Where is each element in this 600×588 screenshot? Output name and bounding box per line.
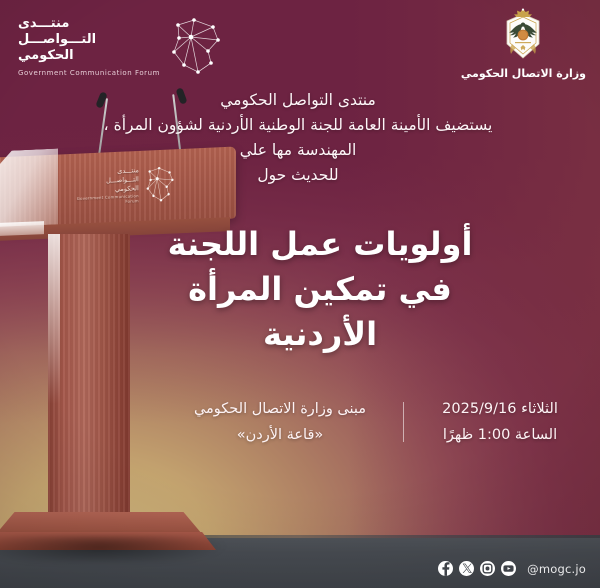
- event-time: الساعة 1:00 ظهرًا: [443, 426, 557, 444]
- facebook-icon[interactable]: [438, 561, 453, 576]
- forum-logo-line2: التـــواصـــل: [18, 32, 96, 48]
- intro-line-3: المهندسة مها علي: [16, 138, 580, 163]
- instagram-icon[interactable]: [480, 561, 495, 576]
- x-twitter-icon[interactable]: [459, 561, 474, 576]
- forum-logo-line1: منتـــدى: [18, 16, 69, 32]
- event-poster: منتـــدى التـــواصـــل الحكومي Governmen…: [0, 0, 600, 588]
- youtube-icon[interactable]: [501, 561, 516, 576]
- intro-line-1: منتدى التواصل الحكومي: [16, 88, 580, 113]
- event-venue: مبنى وزارة الاتصال الحكومي «قاعة الأردن»: [173, 400, 403, 444]
- forum-logo-english: Government Communication Forum: [18, 69, 160, 77]
- headline-line-3: الأردنية: [60, 312, 580, 357]
- jordan-map-constellation-icon: [168, 16, 224, 76]
- intro-line-2: يستضيف الأمينة العامة للجنة الوطنية الأر…: [16, 113, 580, 138]
- ministry-logo-label: وزارة الاتصال الحكومي: [461, 67, 586, 80]
- event-date: الثلاثاء 2025/9/16: [442, 400, 558, 418]
- event-datetime: الثلاثاء 2025/9/16 الساعة 1:00 ظهرًا: [404, 400, 580, 444]
- forum-logo: منتـــدى التـــواصـــل الحكومي Governmen…: [18, 16, 224, 77]
- event-details: الثلاثاء 2025/9/16 الساعة 1:00 ظهرًا مبن…: [160, 400, 580, 444]
- headline-line-1: أولويات عمل اللجنة: [60, 222, 580, 267]
- ministry-logo: وزارة الاتصال الحكومي: [461, 8, 586, 80]
- social-bar: @mogc.jo: [438, 561, 586, 576]
- details-divider: [403, 402, 404, 442]
- social-handle[interactable]: @mogc.jo: [527, 562, 586, 576]
- intro-line-4: للحديث حول: [16, 163, 580, 188]
- forum-logo-line3: الحكومي: [18, 48, 74, 64]
- venue-hall: «قاعة الأردن»: [237, 426, 324, 444]
- venue-building: مبنى وزارة الاتصال الحكومي: [194, 400, 366, 418]
- headline-block: أولويات عمل اللجنة في تمكين المرأة الأرد…: [60, 222, 580, 356]
- intro-text-block: منتدى التواصل الحكومي يستضيف الأمينة الع…: [16, 88, 580, 188]
- jordan-coat-of-arms-icon: [500, 8, 546, 64]
- headline-line-2: في تمكين المرأة: [60, 267, 580, 312]
